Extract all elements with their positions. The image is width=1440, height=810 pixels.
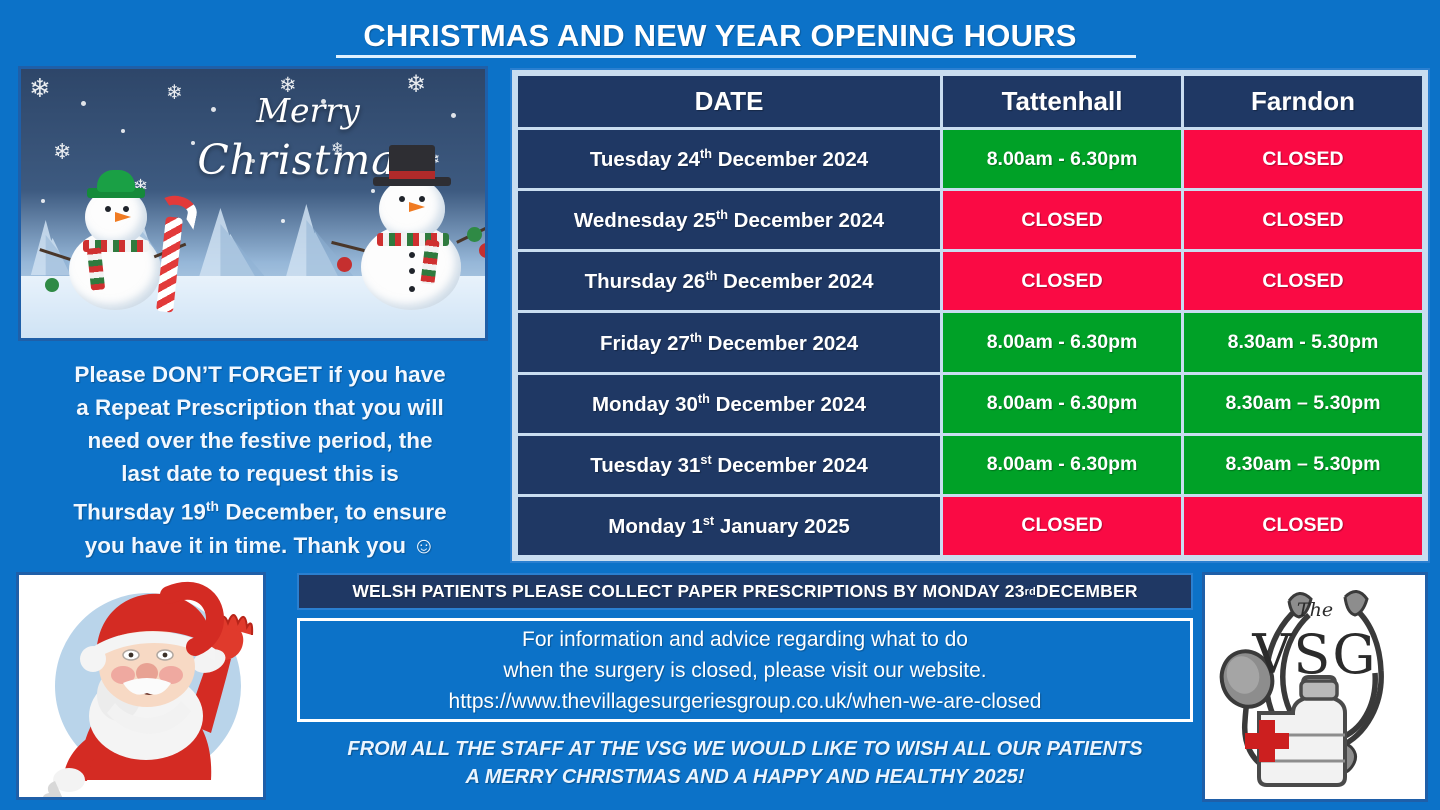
- cell-date-day: Thursday 26: [585, 270, 706, 293]
- cell-farndon: CLOSED: [1184, 497, 1422, 555]
- cell-farndon: 8.30am - 5.30pm: [1184, 313, 1422, 371]
- cell-date-ordinal: th: [698, 391, 710, 406]
- cell-date-ordinal: th: [716, 207, 728, 222]
- notice-line-6: you have it in time. Thank you ☺: [14, 529, 506, 562]
- snow-dot: [81, 101, 86, 106]
- snowflake-icon: ❄: [29, 75, 51, 101]
- notice-line-5-suffix: December, to ensure: [219, 500, 447, 525]
- cell-date: Monday 1st January 2025: [518, 497, 940, 555]
- welsh-banner-prefix: WELSH PATIENTS PLEASE COLLECT PAPER PRES…: [352, 581, 1024, 602]
- cell-date-rest: December 2024: [712, 148, 868, 171]
- cell-tattenhall: CLOSED: [943, 191, 1181, 249]
- cell-farndon: CLOSED: [1184, 130, 1422, 188]
- greeting-line-1: Merry: [163, 91, 453, 130]
- welsh-patients-banner: WELSH PATIENTS PLEASE COLLECT PAPER PRES…: [297, 573, 1193, 610]
- snowman-top-hat-icon: [351, 140, 471, 310]
- info-line-1: For information and advice regarding wha…: [522, 624, 968, 655]
- cell-date-ordinal: st: [703, 513, 714, 528]
- title-underline: [336, 55, 1136, 58]
- notice-line-4: last date to request this is: [14, 457, 506, 490]
- notice-line-5-prefix: Thursday 19: [73, 500, 206, 525]
- cell-tattenhall: CLOSED: [943, 252, 1181, 310]
- column-header-tattenhall: Tattenhall: [943, 76, 1181, 127]
- wish-line-2: A MERRY CHRISTMAS AND A HAPPY AND HEALTH…: [290, 763, 1200, 791]
- cell-tattenhall: 8.00am - 6.30pm: [943, 313, 1181, 371]
- cell-farndon: 8.30am – 5.30pm: [1184, 436, 1422, 494]
- snowman-green-hat-icon: [61, 160, 171, 310]
- cell-date-rest: December 2024: [728, 209, 884, 232]
- santa-image: [16, 572, 266, 800]
- wish-line-1: FROM ALL THE STAFF AT THE VSG WE WOULD L…: [290, 735, 1200, 763]
- cell-tattenhall: CLOSED: [943, 497, 1181, 555]
- notice-line-2: a Repeat Prescription that you will: [14, 391, 506, 424]
- cell-farndon: CLOSED: [1184, 191, 1422, 249]
- cell-farndon: 8.30am – 5.30pm: [1184, 375, 1422, 433]
- vsg-letters-label: VSG: [1205, 623, 1425, 686]
- table-row: Tuesday 31st December 20248.00am - 6.30p…: [518, 436, 1422, 494]
- website-info-box: For information and advice regarding wha…: [297, 618, 1193, 722]
- poster-root: CHRISTMAS AND NEW YEAR OPENING HOURS ❄ ❄…: [0, 0, 1440, 810]
- cell-date-rest: January 2025: [714, 515, 850, 538]
- cell-tattenhall: 8.00am - 6.30pm: [943, 436, 1181, 494]
- table-row: Thursday 26th December 2024CLOSEDCLOSED: [518, 252, 1422, 310]
- cell-date-day: Tuesday 31: [590, 454, 700, 477]
- table-row: Wednesday 25th December 2024CLOSEDCLOSED: [518, 191, 1422, 249]
- table-row: Friday 27th December 20248.00am - 6.30pm…: [518, 313, 1422, 371]
- cell-tattenhall: 8.00am - 6.30pm: [943, 375, 1181, 433]
- cell-date-rest: December 2024: [702, 331, 858, 354]
- santa-claus-icon: [19, 575, 266, 800]
- info-line-2: when the surgery is closed, please visit…: [503, 655, 986, 686]
- table-body: Tuesday 24th December 20248.00am - 6.30p…: [518, 130, 1422, 555]
- table-row: Monday 30th December 20248.00am - 6.30pm…: [518, 375, 1422, 433]
- cell-date-day: Monday 1: [608, 515, 703, 538]
- cell-date-day: Wednesday 25: [574, 209, 716, 232]
- column-header-farndon: Farndon: [1184, 76, 1422, 127]
- website-url-link[interactable]: https://www.thevillagesurgeriesgroup.co.…: [449, 686, 1042, 717]
- cell-date-day: Friday 27: [600, 331, 690, 354]
- table-row: Monday 1st January 2025CLOSEDCLOSED: [518, 497, 1422, 555]
- opening-hours-table: DATE Tattenhall Farndon Tuesday 24th Dec…: [515, 73, 1425, 558]
- page-title: CHRISTMAS AND NEW YEAR OPENING HOURS: [0, 18, 1440, 54]
- cell-date: Monday 30th December 2024: [518, 375, 940, 433]
- vsg-the-label: The: [1205, 599, 1425, 621]
- welsh-banner-suffix: DECEMBER: [1036, 581, 1138, 602]
- cell-date-day: Monday 30: [592, 393, 698, 416]
- cell-date-day: Tuesday 24: [590, 148, 700, 171]
- cell-farndon: CLOSED: [1184, 252, 1422, 310]
- cell-date-ordinal: st: [700, 452, 711, 467]
- cell-date: Wednesday 25th December 2024: [518, 191, 940, 249]
- opening-hours-table-container: DATE Tattenhall Farndon Tuesday 24th Dec…: [510, 68, 1430, 563]
- cell-date-ordinal: th: [700, 146, 712, 161]
- vsg-wordmark: The VSG: [1205, 599, 1425, 686]
- column-header-date: DATE: [518, 76, 940, 127]
- notice-line-3: need over the festive period, the: [14, 424, 506, 457]
- merry-christmas-image: ❄ ❄ ❄ ❄ ❄ ❄ ❄ ❄: [18, 66, 488, 341]
- cell-tattenhall: 8.00am - 6.30pm: [943, 130, 1181, 188]
- vsg-logo: The VSG: [1202, 572, 1428, 802]
- cell-date: Thursday 26th December 2024: [518, 252, 940, 310]
- prescription-notice: Please DON’T FORGET if you have a Repeat…: [14, 358, 506, 562]
- cell-date: Tuesday 31st December 2024: [518, 436, 940, 494]
- closing-wish: FROM ALL THE STAFF AT THE VSG WE WOULD L…: [290, 735, 1200, 791]
- cell-date-rest: December 2024: [710, 393, 866, 416]
- cell-date-rest: December 2024: [712, 454, 868, 477]
- notice-line-5-ordinal: th: [206, 498, 219, 514]
- cell-date-rest: December 2024: [717, 270, 873, 293]
- table-header-row: DATE Tattenhall Farndon: [518, 76, 1422, 127]
- cell-date: Tuesday 24th December 2024: [518, 130, 940, 188]
- welsh-banner-ordinal: rd: [1025, 586, 1036, 598]
- cell-date: Friday 27th December 2024: [518, 313, 940, 371]
- notice-line-5: Thursday 19th December, to ensure: [14, 490, 506, 529]
- cell-date-ordinal: th: [705, 268, 717, 283]
- cell-date-ordinal: th: [690, 330, 702, 345]
- notice-line-1: Please DON’T FORGET if you have: [14, 358, 506, 391]
- table-row: Tuesday 24th December 20248.00am - 6.30p…: [518, 130, 1422, 188]
- snow-dot: [121, 129, 125, 133]
